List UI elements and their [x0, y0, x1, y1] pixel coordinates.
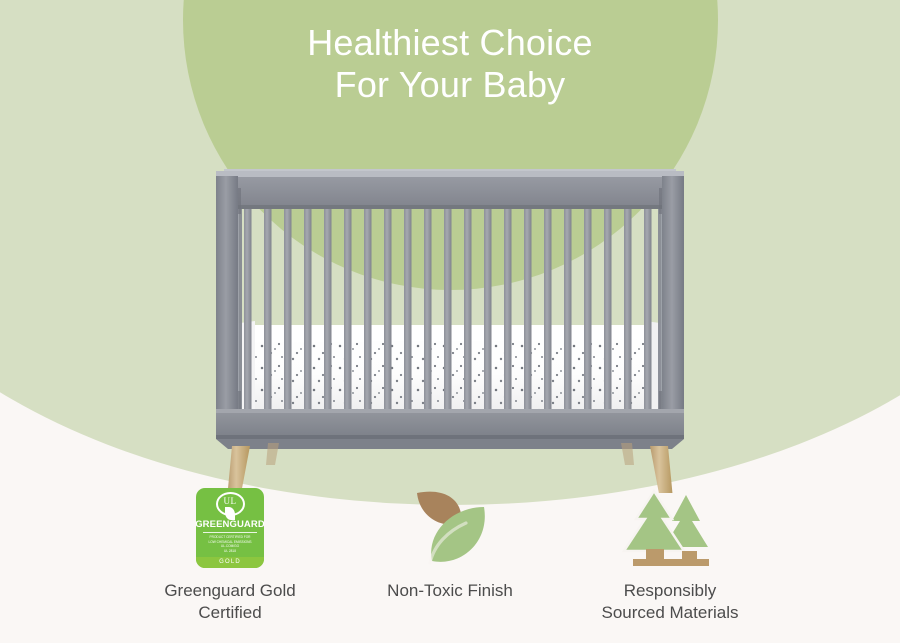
pine-trees-icon — [616, 482, 724, 574]
feature-sourced: Responsibly Sourced Materials — [578, 482, 763, 625]
ul-mark-icon: UL — [216, 492, 245, 516]
promo-banner: Healthiest Choice For Your Baby — [0, 0, 900, 643]
feature-list: UL GREENGUARD PRODUCT CERTIFIED FOR LOW … — [0, 482, 900, 625]
greenguard-gold-badge-icon: UL GREENGUARD PRODUCT CERTIFIED FOR LOW … — [196, 482, 264, 574]
badge-tier: GOLD — [196, 557, 264, 568]
feature-caption: Greenguard Gold Certified — [164, 580, 295, 625]
badge-fine-print: PRODUCT CERTIFIED FOR LOW CHEMICAL EMISS… — [202, 535, 258, 554]
badge-name: GREENGUARD — [196, 519, 264, 530]
two-leaves-icon — [404, 482, 496, 574]
feature-caption: Responsibly Sourced Materials — [601, 580, 738, 625]
feature-greenguard: UL GREENGUARD PRODUCT CERTIFIED FOR LOW … — [138, 482, 323, 625]
badge-divider — [203, 532, 257, 533]
feature-caption: Non-Toxic Finish — [387, 580, 513, 602]
crib-illustration — [180, 143, 720, 493]
feature-non-toxic: Non-Toxic Finish — [358, 482, 543, 602]
page-title: Healthiest Choice For Your Baby — [0, 22, 900, 106]
